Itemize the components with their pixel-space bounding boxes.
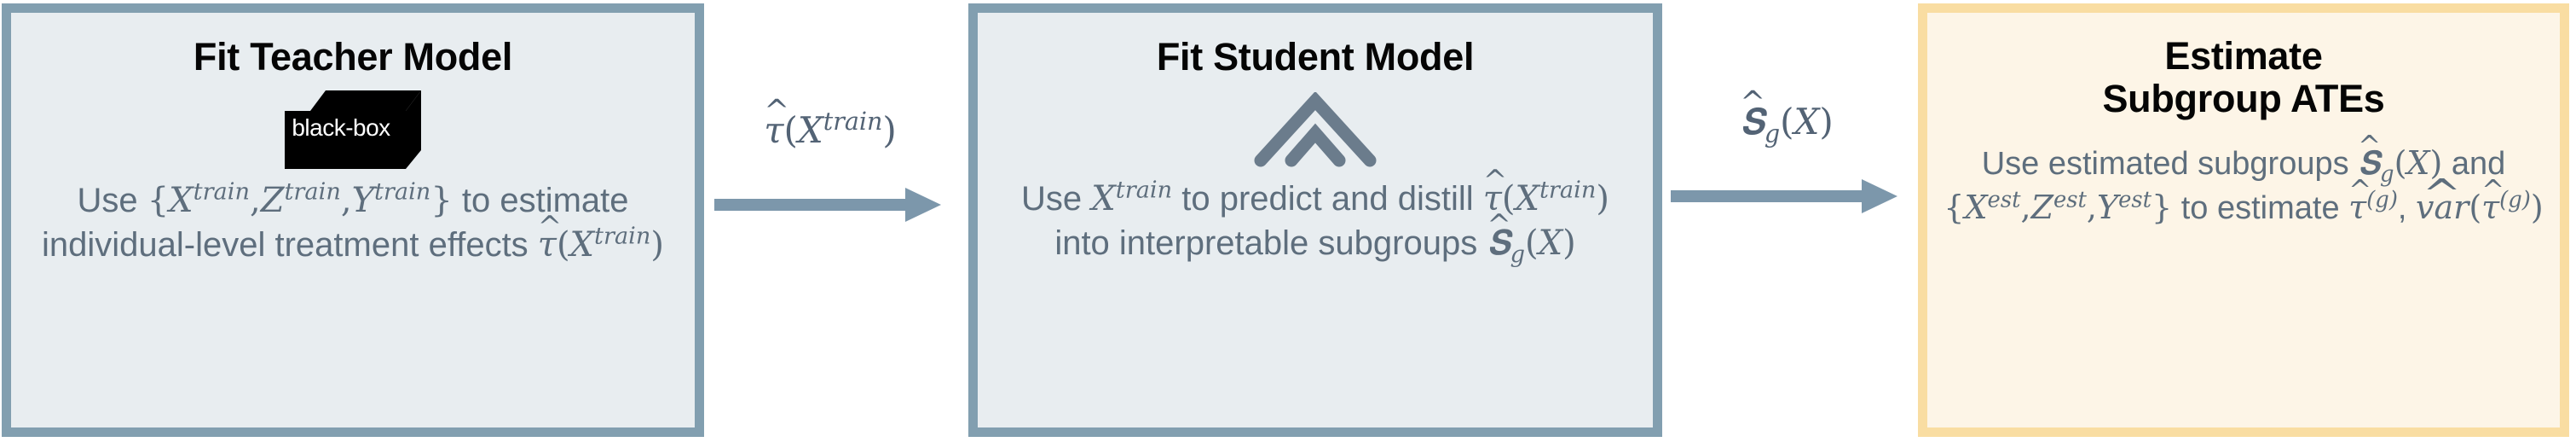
body-text-mid-1: to predict and distill [1172,180,1483,218]
paren-open: ( [1780,101,1793,142]
body-text-lead: Use [77,182,147,219]
sup-est-1: est [1988,187,2021,212]
arrow-2-label: ^𝐒g(X) [1671,101,1903,143]
arrow-2-shape [1671,176,1903,217]
arg-var-x: X [1516,179,1539,218]
arg-var-x: X [798,109,823,151]
var-y-train: Y [352,181,374,220]
body-text-mid-2: into interpretable subgroups [1054,224,1487,262]
sup-train-1: train [193,179,250,206]
var-z-est: Z [2031,189,2053,226]
sup-est-3: est [2118,187,2151,212]
diagram-canvas: Fit Teacher Model black-box Use {Xtrain,… [0,0,2576,442]
arrow-1-shape [714,184,946,225]
step-box-estimate-ates: Estimate Subgroup ATEs Use estimated sub… [1918,3,2569,437]
paren-close-2: ) [2531,189,2544,226]
set-open-brace: { [147,181,169,220]
body-text-lead: Use [1021,180,1091,218]
gcal-hat-symbol: ^𝐒 [1487,221,1510,265]
tau-hat-symbol: ^τ [764,109,783,151]
arg-sup-train: train [1539,177,1596,204]
comma-2: , [341,181,352,220]
set-open-brace: { [1944,189,1964,226]
arg-var-x: X [570,225,594,265]
var-x-est: X [1964,189,1987,226]
var-x-train: X [169,181,193,220]
step-box-fit-student: Fit Student Model Use Xtrain to predict … [968,3,1662,437]
set-close-brace: } [430,181,452,220]
paren-close: ) [882,109,896,151]
paren-close-2: ) [1562,224,1576,263]
sup-train-1: train [1116,177,1172,204]
black-box-icon: black-box [285,89,421,171]
comma-1: , [2020,189,2030,226]
gcal-subscript-g: g [2380,161,2394,187]
gcal-subscript-g: g [1510,241,1525,268]
tau-hat-symbol-2: ^τ [2481,186,2499,230]
gcal-hat-symbol: ^𝐒 [1740,101,1765,143]
paren-close: ) [1596,179,1609,218]
gcal-subscript-g: g [1765,119,1780,148]
arg-sup-train: train [594,224,650,250]
arg-var-x-2: X [1539,224,1562,263]
body-text-mid-2: to estimate [2172,190,2348,226]
arg-var-x: X [1793,101,1819,142]
paren-open-2: ( [1525,224,1539,263]
black-box-label: black-box [292,114,390,142]
step-title-fit-teacher: Fit Teacher Model [193,36,512,79]
comma-2: , [2087,189,2097,226]
step-body-fit-student: Use Xtrain to predict and distill ^τ(Xtr… [991,177,1639,265]
paren-close: ) [1819,101,1833,142]
step-body-fit-teacher: Use {Xtrain,Ztrain,Ytrain} to estimate i… [29,178,677,267]
var-x-train: X [1091,179,1115,218]
sup-train-2: train [285,179,341,206]
var-hat-symbol: ^var [2416,186,2469,230]
step-title-estimate-ates: Estimate Subgroup ATEs [2102,35,2384,121]
set-close-brace: } [2151,189,2172,226]
sup-est-2: est [2053,187,2087,212]
var-y-est: Y [2097,189,2118,226]
step-title-fit-student: Fit Student Model [1157,36,1474,79]
tau-hat-symbol: ^τ [2348,186,2366,230]
body-text-lead: Use estimated subgroups [1982,146,2358,182]
paren-open: ( [2394,144,2407,182]
tau-hat-symbol: ^τ [538,223,557,267]
step-box-fit-teacher: Fit Teacher Model black-box Use {Xtrain,… [2,3,704,437]
comma-1: , [250,181,261,220]
step-body-estimate-ates: Use estimated subgroups ^𝐒g(X) and {Xest… [1938,142,2549,230]
decision-tree-icon [1249,92,1382,169]
var-z-train: Z [261,181,285,220]
arrow-1-label: ^τ(Xtrain) [714,109,946,151]
paren-close: ) [650,225,664,265]
sup-train-3: train [374,179,430,206]
arg-sup-train: train [823,107,883,136]
